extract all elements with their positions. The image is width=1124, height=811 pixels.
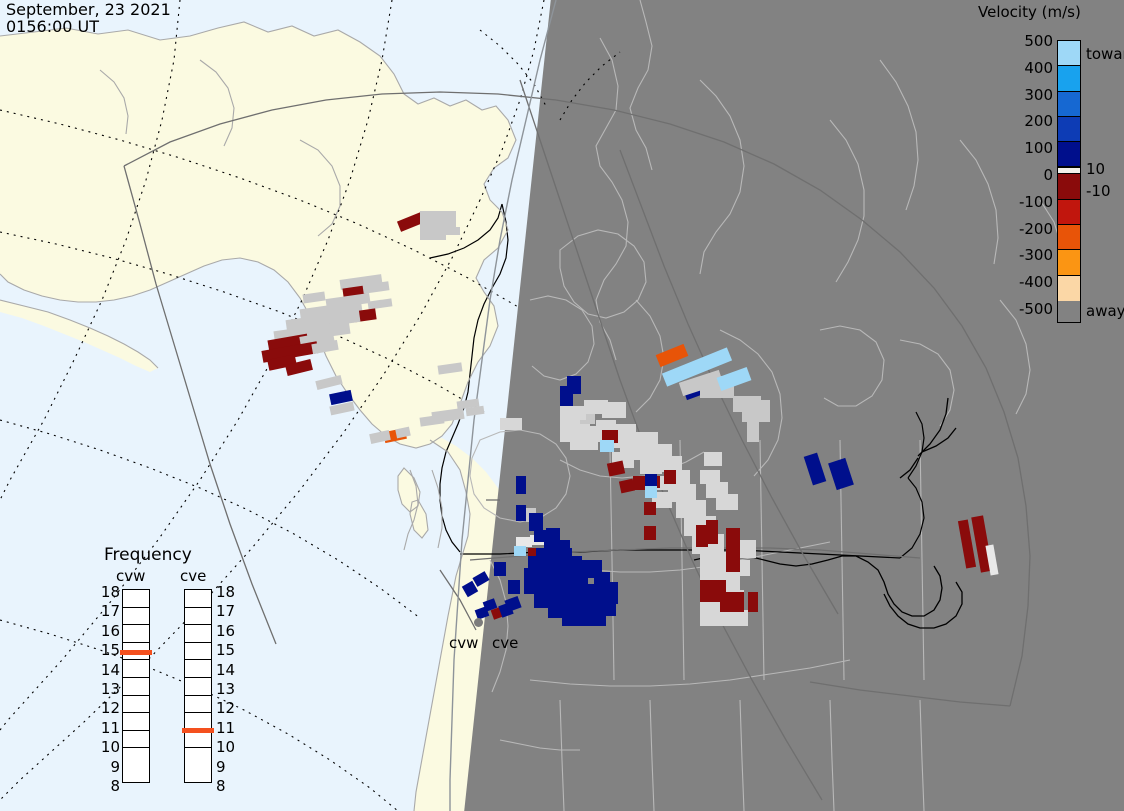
frequency-row	[123, 625, 149, 643]
colorbar-tick: 100	[999, 139, 1053, 157]
frequency-row	[123, 678, 149, 696]
graticule-grid	[0, 0, 620, 811]
colorbar-tick: -400	[999, 273, 1053, 291]
colorbar-tick: -500	[999, 300, 1053, 318]
colorbar-band	[1058, 250, 1080, 275]
radar-cell	[726, 528, 740, 572]
colorbar-band	[1058, 41, 1080, 66]
station-label-cve: cve	[492, 634, 518, 652]
colorbar-away-label: away	[1086, 302, 1124, 320]
frequency-scale-label: 17	[96, 602, 120, 620]
colorbar-band	[1058, 117, 1080, 142]
colorbar-lower-inner-label: -10	[1086, 182, 1111, 200]
colorbar-tick: 500	[999, 32, 1053, 50]
frequency-bar-cve	[184, 589, 212, 783]
radar-cell	[633, 476, 645, 490]
colorbar-tick: 0	[999, 166, 1053, 184]
colorbar-toward-label: toward	[1086, 45, 1124, 63]
radar-cell	[700, 470, 720, 484]
station-label-cvw: cvw	[449, 634, 478, 652]
timestamp-block: September, 23 2021 0156:00 UT	[6, 2, 171, 36]
radar-cell	[529, 513, 543, 531]
radar-cell	[556, 540, 570, 556]
colorbar-band	[1058, 66, 1080, 91]
frequency-column-label-cve: cve	[180, 567, 206, 585]
radar-cell	[572, 604, 616, 616]
radar-cell	[600, 440, 614, 452]
colorbar-band	[1058, 174, 1080, 199]
colorbar-band	[1058, 225, 1080, 250]
colorbar-band	[1058, 276, 1080, 301]
radar-cell	[716, 494, 738, 510]
colorbar-neutral-band	[1058, 167, 1080, 174]
timestamp-time: 0156:00 UT	[6, 19, 171, 36]
radar-cell	[602, 402, 626, 418]
frequency-row	[185, 590, 211, 608]
radar-cell	[748, 592, 758, 612]
colorbar-tick-labels: 5004003002001000-100-200-300-400-500	[995, 0, 1053, 330]
radar-cell	[720, 592, 744, 612]
radar-cell	[664, 470, 676, 484]
frequency-scale-label: 9	[216, 758, 240, 776]
frequency-scale-label: 8	[96, 777, 120, 795]
frequency-row	[123, 590, 149, 608]
frequency-bar-cvw	[122, 589, 150, 783]
radar-cell	[644, 502, 656, 515]
frequency-row	[185, 696, 211, 714]
frequency-scale-label: 13	[216, 680, 240, 698]
frequency-scale-label: 14	[96, 661, 120, 679]
radar-cell	[516, 476, 526, 494]
radar-velocity-map: cvw cve September, 23 2021 0156:00 UT Ve…	[0, 0, 1124, 811]
radar-cell	[706, 520, 718, 544]
radar-cell	[514, 546, 526, 556]
velocity-colorbar	[1057, 40, 1081, 323]
radar-cell	[508, 580, 520, 594]
frequency-row	[185, 660, 211, 678]
radar-cell	[640, 460, 662, 474]
frequency-row	[123, 608, 149, 626]
frequency-legend-title: Frequency	[104, 545, 192, 565]
radar-cell	[440, 227, 460, 235]
colorbar-tick: 300	[999, 86, 1053, 104]
frequency-scale-label: 12	[216, 699, 240, 717]
radar-cell	[567, 376, 581, 394]
frequency-scale-label: 10	[96, 738, 120, 756]
frequency-row	[185, 748, 211, 766]
radar-cell	[645, 486, 657, 498]
radar-cell	[704, 452, 722, 466]
frequency-row	[185, 625, 211, 643]
frequency-row	[185, 731, 211, 749]
colorbar-tick: 200	[999, 112, 1053, 130]
frequency-scale-label: 18	[96, 583, 120, 601]
frequency-row	[123, 696, 149, 714]
frequency-scale-label: 11	[96, 719, 120, 737]
radar-cell	[500, 418, 522, 430]
colorbar-upper-inner-label: 10	[1086, 160, 1105, 178]
colorbar-band	[1058, 200, 1080, 225]
radar-cell	[700, 610, 748, 626]
radar-cell	[747, 422, 759, 442]
frequency-row	[123, 731, 149, 749]
frequency-row	[185, 678, 211, 696]
frequency-scale-label: 17	[216, 602, 240, 620]
frequency-scale-label: 16	[96, 622, 120, 640]
radar-cell	[544, 542, 558, 554]
colorbar-tick: -200	[999, 220, 1053, 238]
frequency-scale-label: 14	[216, 661, 240, 679]
colorbar-tick: -300	[999, 246, 1053, 264]
frequency-row	[123, 713, 149, 731]
frequency-row	[123, 748, 149, 766]
radar-cell	[645, 474, 657, 486]
frequency-scale-label: 11	[216, 719, 240, 737]
frequency-scale-label: 9	[96, 758, 120, 776]
frequency-column-label-cvw: cvw	[116, 567, 145, 585]
radar-cell	[742, 400, 770, 422]
radar-cell	[560, 406, 586, 420]
frequency-legend: Frequency cvw cve 1818171716161515141413…	[96, 545, 246, 785]
frequency-row	[185, 643, 211, 661]
frequency-scale-label: 18	[216, 583, 240, 601]
radar-cell	[578, 560, 602, 578]
frequency-scale-label: 13	[96, 680, 120, 698]
colorbar-band	[1058, 142, 1080, 167]
frequency-scale-label: 15	[216, 641, 240, 659]
frequency-scale-label: 12	[96, 699, 120, 717]
radar-cell	[644, 526, 656, 540]
frequency-scale-label: 10	[216, 738, 240, 756]
colorbar-band	[1058, 92, 1080, 117]
frequency-row	[123, 660, 149, 678]
frequency-scale-label: 8	[216, 777, 240, 795]
frequency-marker-cvw	[120, 650, 152, 655]
frequency-marker-cve	[182, 728, 214, 733]
radar-cell	[494, 562, 506, 576]
radar-cell	[516, 505, 526, 521]
frequency-scale-label: 16	[216, 622, 240, 640]
colorbar-tick: -100	[999, 193, 1053, 211]
colorbar-tick: 400	[999, 59, 1053, 77]
radar-site-marker-cvw	[474, 618, 483, 627]
frequency-scale-label: 15	[96, 641, 120, 659]
frequency-row	[185, 608, 211, 626]
